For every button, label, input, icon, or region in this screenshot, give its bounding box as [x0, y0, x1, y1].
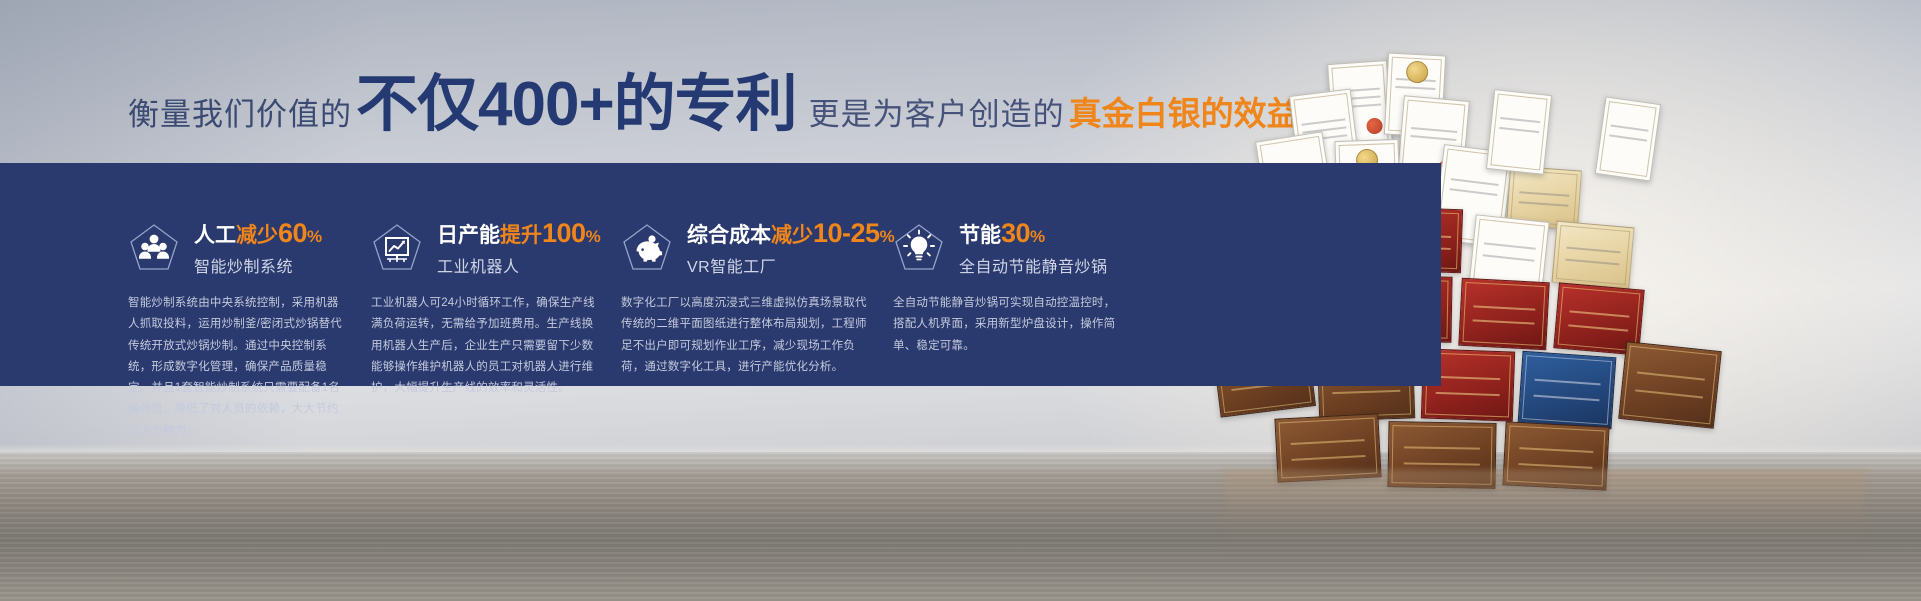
feature-value-1: 60 — [278, 218, 307, 248]
certificate-item — [1618, 341, 1722, 429]
feature-title-4: 节能30% — [959, 219, 1108, 247]
feature-value-3: 10-25 — [813, 218, 880, 248]
feature-paragraph-4: 全自动节能静音炒锅可实现自动控温控时，搭配人机界面，采用新型炉盘设计，操作简单、… — [893, 293, 1143, 373]
certificate-item — [1458, 278, 1549, 351]
feature-value-2: 100 — [542, 218, 586, 248]
features-row: 人工减少60% 智能炒制系统 — [128, 213, 1308, 283]
headline-emphasis: 不仅400+的专利 — [356, 74, 797, 136]
feature-unit-2: % — [586, 227, 601, 246]
feature-title-1: 人工减少60% — [194, 219, 322, 247]
feature-title-3: 综合成本减少10-25% — [687, 219, 895, 247]
certificate-item — [1551, 221, 1634, 290]
feature-title-white-1: 人工 — [194, 224, 236, 247]
certificate-item — [1595, 96, 1661, 181]
feature-unit-4: % — [1030, 227, 1045, 246]
feature-text-4: 节能30% 全自动节能静音炒锅 — [959, 219, 1108, 276]
people-group-icon — [128, 222, 180, 274]
feature-subtitle-4: 全自动节能静音炒锅 — [959, 253, 1108, 277]
feature-title-orange-3: 减少 — [771, 224, 813, 247]
feature-item-4[interactable]: 节能30% 全自动节能静音炒锅 — [893, 213, 1143, 283]
banner-stage: 衡量我们价值的 不仅400+的专利 更是为客户创造的 真金白银的效益 — [0, 0, 1921, 601]
feature-text-3: 综合成本减少10-25% VR智能工厂 — [687, 219, 895, 276]
feature-title-orange-1: 减少 — [236, 224, 278, 247]
feature-item-3[interactable]: 综合成本减少10-25% VR智能工厂 — [621, 213, 893, 283]
chart-board-icon — [371, 222, 423, 274]
headline-prefix: 衡量我们价值的 — [128, 89, 352, 134]
feature-paragraph-2: 工业机器人可24小时循环工作，确保生产线满负荷运转，无需给予加班费用。生产线换用… — [371, 293, 621, 373]
certificate-item — [1518, 351, 1617, 429]
feature-title-white-3: 综合成本 — [687, 224, 771, 247]
feature-item-2[interactable]: 日产能提升100% 工业机器人 — [371, 213, 621, 283]
feature-text-2: 日产能提升100% 工业机器人 — [437, 219, 601, 276]
features-panel: 人工减少60% 智能炒制系统 — [0, 163, 1441, 386]
descriptions-row: 智能炒制系统由中央系统控制，采用机器人抓取投料，运用炒制釜/密闭式炒锅替代传统开… — [128, 293, 1308, 373]
certificate-item — [1486, 89, 1552, 175]
feature-subtitle-3: VR智能工厂 — [687, 253, 895, 277]
feature-subtitle-1: 智能炒制系统 — [194, 253, 322, 277]
feature-paragraph-3: 数字化工厂以高度沉浸式三维虚拟仿真场景取代传统的二维平面图纸进行整体布局规划，工… — [621, 293, 893, 373]
light-bulb-icon — [893, 222, 945, 274]
feature-title-white-4: 节能 — [959, 224, 1001, 247]
headline-middle: 更是为客户创造的 — [809, 89, 1065, 134]
feature-item-1[interactable]: 人工减少60% 智能炒制系统 — [128, 213, 371, 283]
feature-paragraph-1: 智能炒制系统由中央系统控制，采用机器人抓取投料，运用炒制釜/密闭式炒锅替代传统开… — [128, 293, 371, 373]
feature-title-white-2: 日产能 — [437, 224, 500, 247]
feature-value-4: 30 — [1001, 218, 1030, 248]
feature-unit-1: % — [307, 227, 322, 246]
certificate-reflection — [1225, 470, 1865, 565]
feature-subtitle-2: 工业机器人 — [437, 253, 601, 277]
feature-title-orange-2: 提升 — [500, 224, 542, 247]
piggy-bank-icon — [621, 222, 673, 274]
feature-title-2: 日产能提升100% — [437, 219, 601, 247]
feature-text-1: 人工减少60% 智能炒制系统 — [194, 219, 322, 276]
